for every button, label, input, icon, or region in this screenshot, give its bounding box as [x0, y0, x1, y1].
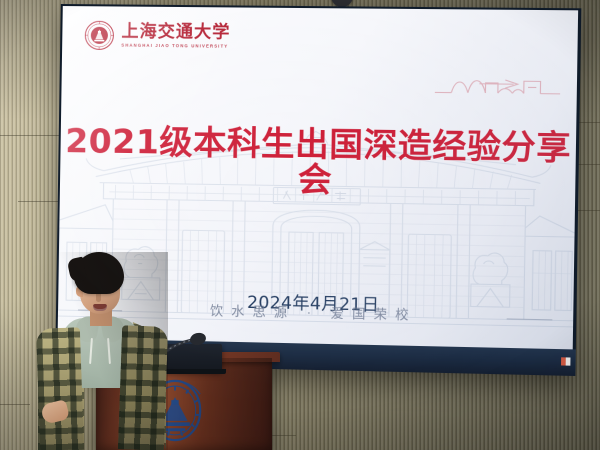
sjtu-seal-icon: [84, 20, 115, 50]
slide-title: 2021级本科生出国深造经验分享会: [60, 124, 576, 202]
presenter: [36, 252, 168, 450]
presenter-shirt-right-panel: [118, 325, 168, 450]
university-logo: 上海交通大学 SHANGHAI JIAO TONG UNIVERSITY: [84, 20, 230, 52]
roofline-doodle-icon: [433, 68, 563, 104]
screen-power-led: [561, 357, 571, 365]
university-name-en: SHANGHAI JIAO TONG UNIVERSITY: [121, 43, 230, 49]
wall-seam: [0, 404, 30, 405]
presenter-shirt-left-panel: [36, 327, 84, 450]
university-logo-text: 上海交通大学 SHANGHAI JIAO TONG UNIVERSITY: [121, 23, 230, 49]
wall-seam: [0, 135, 60, 136]
presenter-mouth: [93, 304, 107, 311]
lecture-hall-photo: 上海交通大学 SHANGHAI JIAO TONG UNIVERSITY: [0, 0, 600, 450]
university-name-cn: 上海交通大学: [121, 23, 230, 41]
